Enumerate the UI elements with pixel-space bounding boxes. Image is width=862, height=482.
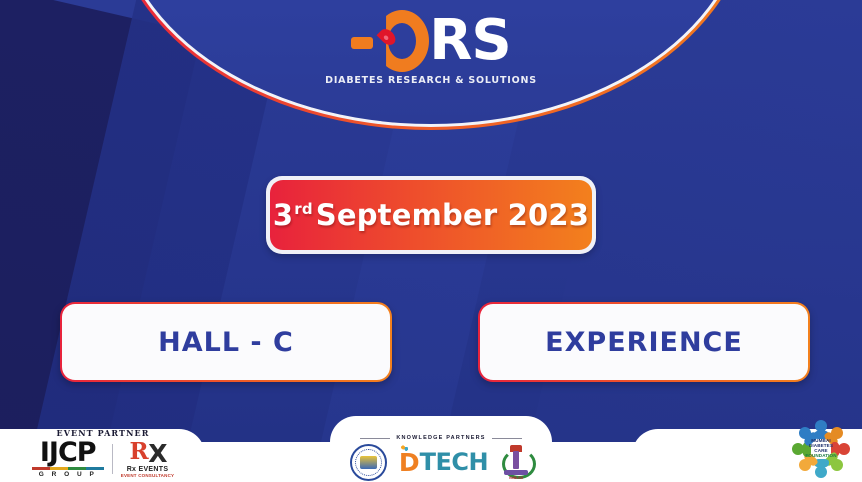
seal-emblem-icon bbox=[350, 444, 387, 481]
ijcp-logo-word: IJCP bbox=[32, 440, 104, 466]
footer-divider bbox=[112, 444, 113, 474]
rx-logo-line2: EVENT CONSULTANCY bbox=[121, 473, 175, 478]
knowledge-partners-block: KNOWLEDGE PARTNERS D TECH bbox=[333, 435, 549, 480]
date-banner-inner: 3rdSeptember 2023 bbox=[270, 180, 592, 250]
hall-card-label: HALL - C bbox=[158, 327, 294, 358]
dash-icon bbox=[351, 37, 373, 49]
crest-base-shape bbox=[504, 470, 528, 475]
date-banner: 3rdSeptember 2023 bbox=[266, 176, 596, 254]
ijcp-logo: IJCP G R O U P bbox=[32, 440, 104, 478]
rule-left bbox=[360, 438, 390, 439]
knowledge-partners-label: KNOWLEDGE PARTNERS bbox=[396, 435, 485, 441]
letter-d-icon bbox=[375, 10, 429, 72]
seal-core-icon bbox=[360, 456, 377, 469]
drs-logo-rs-text: RS bbox=[429, 13, 510, 69]
date-ordinal: rd bbox=[294, 200, 313, 218]
knowledge-partners-logos: D TECH EMBLEM bbox=[333, 444, 549, 480]
knowledge-partners-label-row: KNOWLEDGE PARTNERS bbox=[333, 435, 549, 441]
experience-card-inner: EXPERIENCE bbox=[480, 304, 808, 380]
rx-mark-icon: R X bbox=[128, 440, 168, 466]
rx-letter-x: X bbox=[148, 441, 167, 466]
hall-card-inner: HALL - C bbox=[62, 304, 390, 380]
drs-logo-tagline: DIABETES RESEARCH & SOLUTIONS bbox=[325, 75, 537, 86]
rule-right bbox=[492, 438, 522, 439]
crest-caption: EMBLEM bbox=[500, 476, 532, 480]
experience-card-label: EXPERIENCE bbox=[545, 327, 743, 358]
event-slide: RS DIABETES RESEARCH & SOLUTIONS 3rdSept… bbox=[0, 0, 862, 482]
rx-events-logo: R X Rx EVENTS EVENT CONSULTANCY bbox=[121, 440, 175, 478]
rx-letter-r: R bbox=[130, 440, 149, 463]
crest-pillar-shape bbox=[513, 451, 519, 469]
dtech-letter-d: D bbox=[399, 450, 420, 475]
date-rest: September 2023 bbox=[316, 198, 589, 232]
event-partner-block: EVENT PARTNER IJCP G R O U P R X bbox=[8, 428, 198, 478]
mdcf-center-text: MUMBAI DIABETES CARE FOUNDATION bbox=[802, 431, 840, 467]
experience-card[interactable]: EXPERIENCE bbox=[478, 302, 810, 382]
drs-logo: RS DIABETES RESEARCH & SOLUTIONS bbox=[0, 10, 862, 86]
footer-content: EVENT PARTNER IJCP G R O U P R X bbox=[0, 414, 862, 482]
hall-card[interactable]: HALL - C bbox=[60, 302, 392, 382]
ijcp-color-bar bbox=[32, 467, 104, 470]
dtech-logo: D TECH bbox=[399, 450, 488, 475]
dtech-word-tech: TECH bbox=[420, 450, 488, 474]
mumbai-diabetes-care-foundation-logo: MUMBAI DIABETES CARE FOUNDATION bbox=[790, 419, 852, 479]
date-day: 3 bbox=[273, 198, 293, 232]
mdcf-line-4: FOUNDATION bbox=[805, 454, 836, 459]
footer: EVENT PARTNER IJCP G R O U P R X bbox=[0, 414, 862, 482]
event-partner-label: EVENT PARTNER bbox=[8, 428, 198, 438]
date-text: 3rdSeptember 2023 bbox=[273, 198, 589, 232]
event-partner-logos: IJCP G R O U P R X Rx EVENTS EVENT C bbox=[8, 440, 198, 478]
crest-emblem-icon: EMBLEM bbox=[500, 445, 532, 479]
ijcp-logo-sub: G R O U P bbox=[32, 471, 104, 478]
drs-logo-mark: RS bbox=[351, 10, 510, 72]
